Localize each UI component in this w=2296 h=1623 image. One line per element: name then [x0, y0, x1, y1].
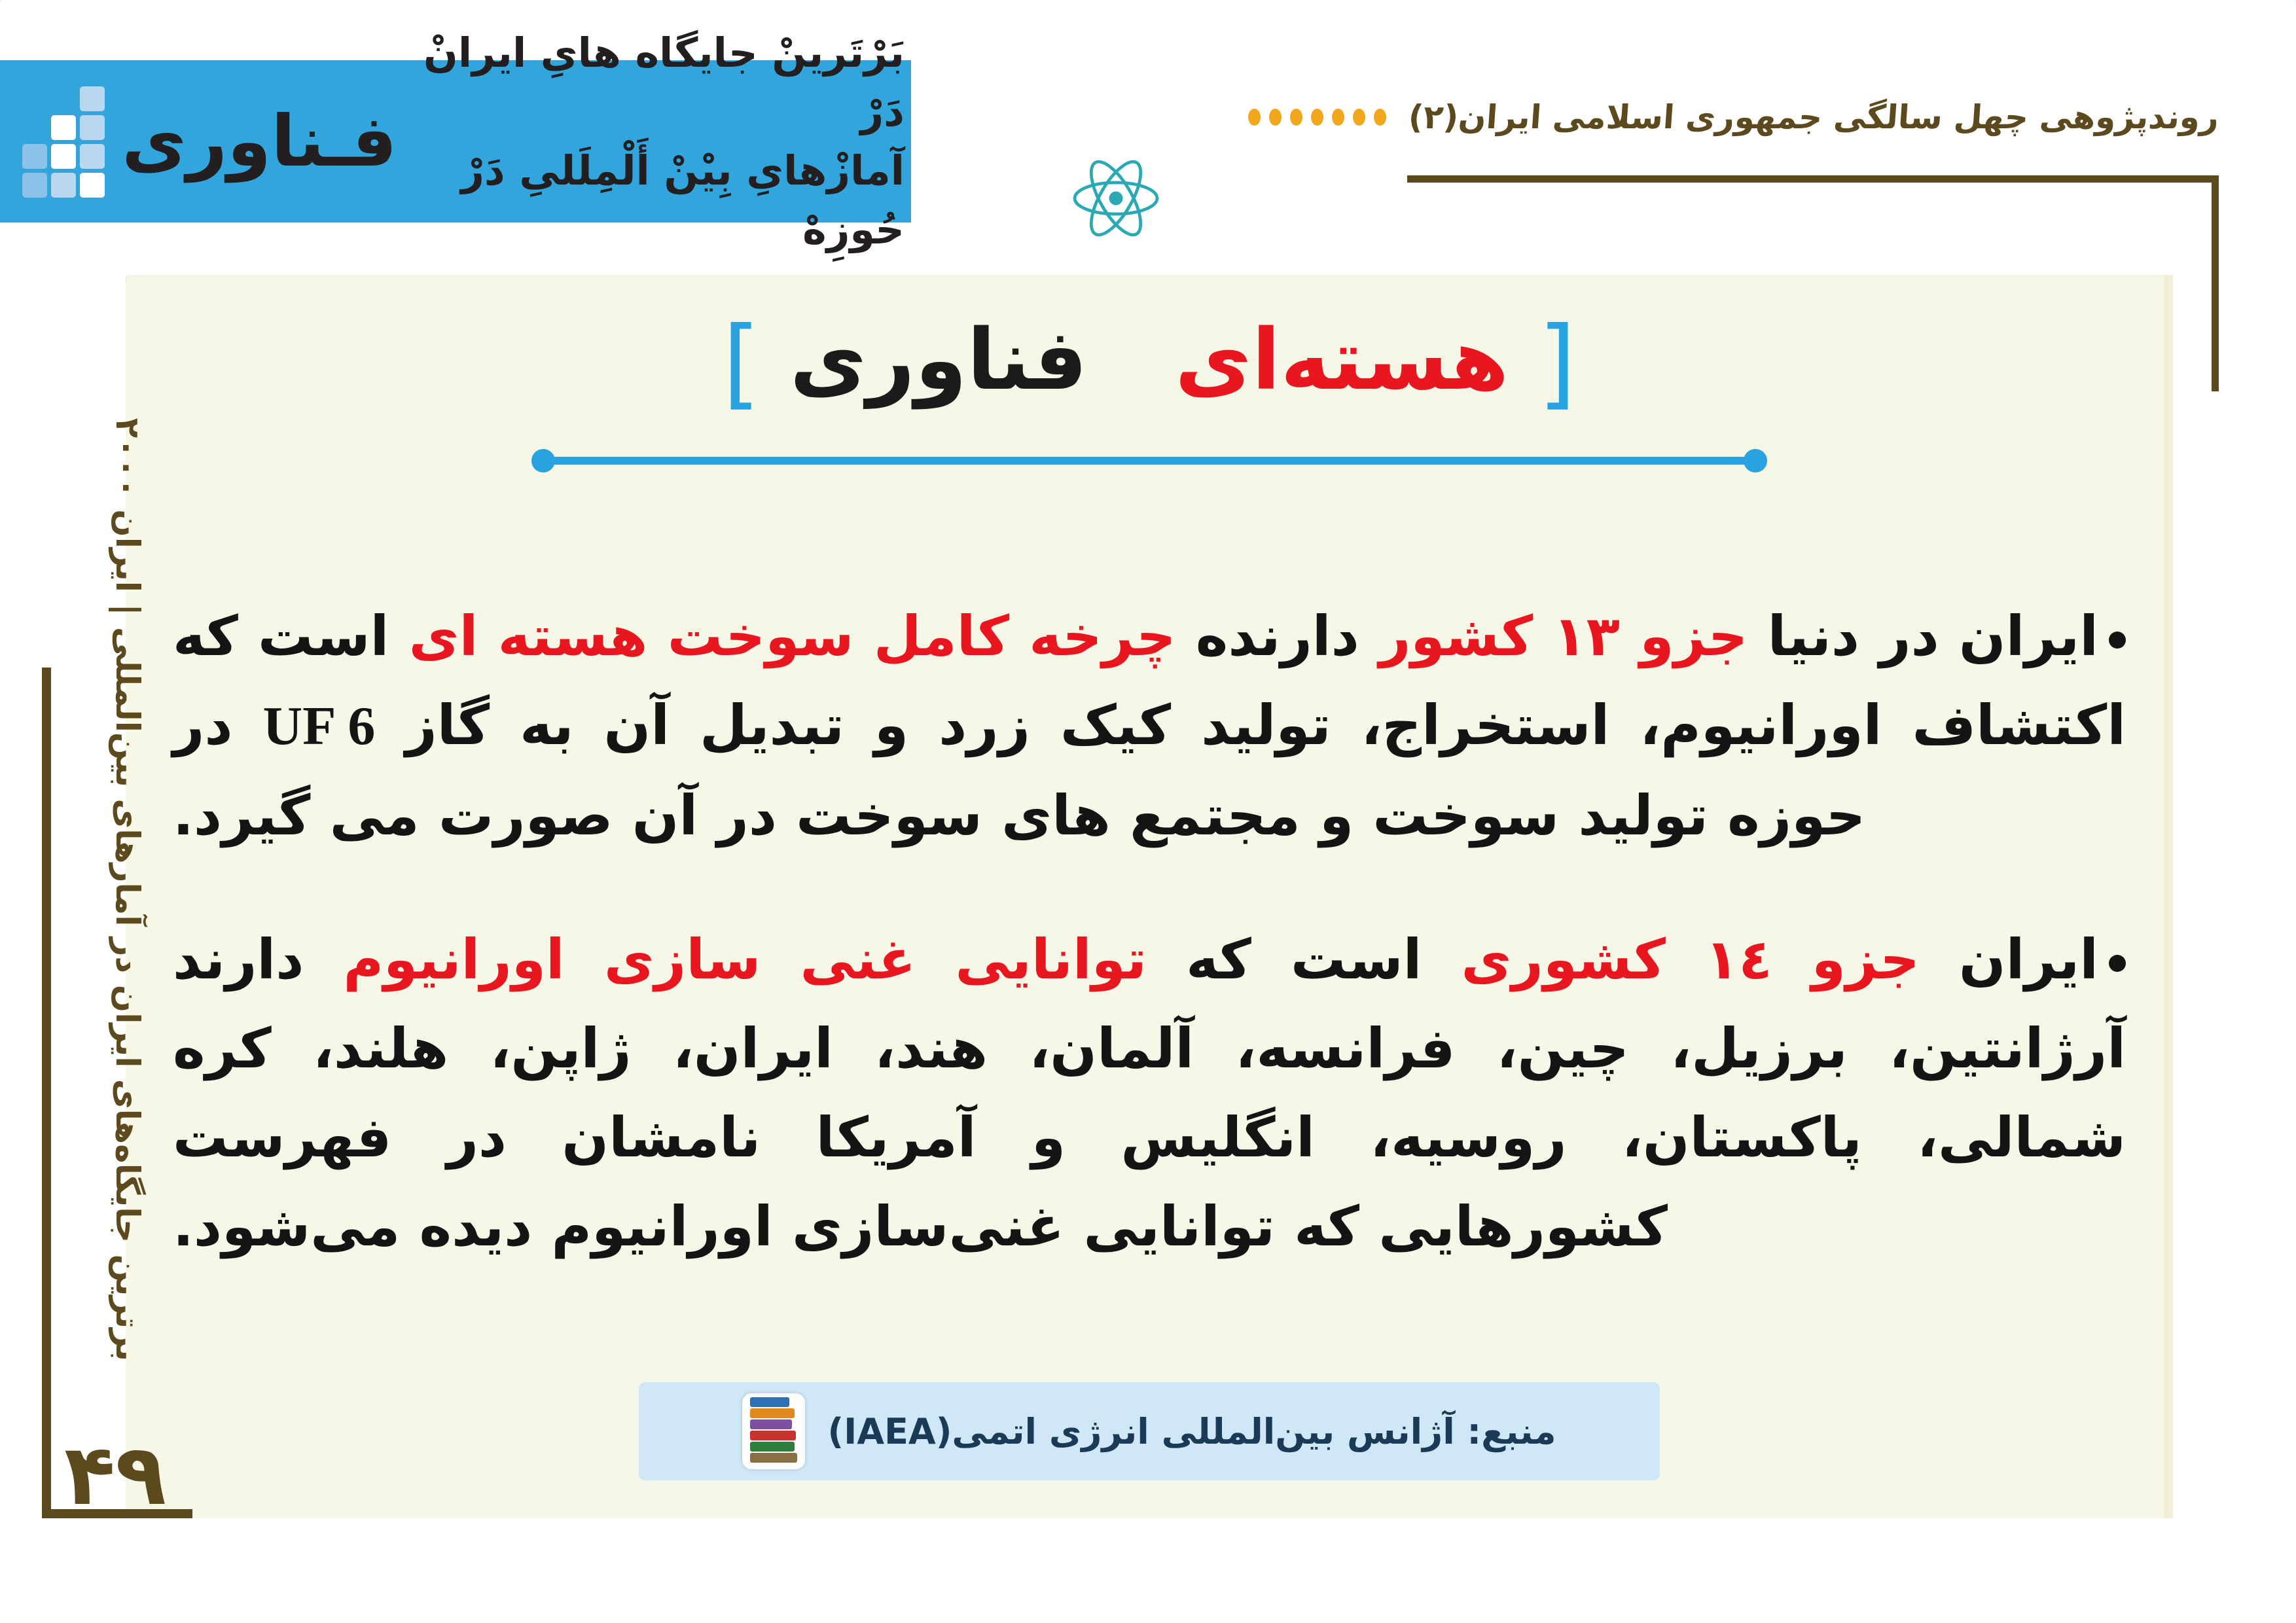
page-title: [ هسته‌ای فناوری ] — [126, 314, 2173, 412]
content-card: [ هسته‌ای فناوری ] ایران در دنیا جزو ۱۳ … — [126, 275, 2173, 1518]
bracket-close-icon: ] — [723, 306, 761, 420]
bullet-paragraph-1: ایران در دنیا جزو ۱۳ کشور دارنده چرخه کا… — [173, 592, 2126, 860]
atom-icon — [1067, 149, 1165, 247]
source-label: منبع: آژانس بین‌المللی انرژی اتمی(IAEA) — [827, 1411, 1556, 1452]
series-title: روندپژوهی چهل سالگی جمهوری اسلامی ایران(… — [1407, 98, 2220, 136]
page-title-red: هسته‌ای — [1175, 312, 1509, 409]
dot-decoration — [1248, 109, 1386, 126]
series-title-row: روندپژوهی چهل سالگی جمهوری اسلامی ایران(… — [1248, 98, 2219, 136]
header-corner-rule — [1407, 175, 2219, 183]
card-edge-accent — [2164, 275, 2173, 1518]
bullet-paragraph-2: ایران جزو ۱٤ کشوری است که توانایی غنی سا… — [173, 915, 2126, 1271]
slide-page: بَرْتَرینْ جایگاه هایِ ایرانْ دَرْ آمازْ… — [0, 0, 2296, 1623]
bracket-open-icon: [ — [1538, 306, 1577, 420]
page-title-black: فناوری — [790, 312, 1088, 409]
sidebar-vertical-title: برترین جایگاه‌های ایران در آمارهای بین‌ا… — [109, 668, 147, 1361]
body-text: ایران در دنیا جزو ۱۳ کشور دارنده چرخه کا… — [173, 537, 2126, 1327]
bullet-dot-icon — [2109, 955, 2126, 972]
sidebar-rule — [42, 668, 51, 1518]
grid-logo-icon — [22, 86, 105, 196]
bullet-dot-icon — [2109, 632, 2126, 649]
paragraph-2-content: ایران جزو ۱٤ کشوری است که توانایی غنی سا… — [173, 927, 2126, 1258]
header-banner: بَرْتَرینْ جایگاه هایِ ایرانْ دَرْ آمازْ… — [0, 60, 911, 223]
title-underline — [541, 457, 1758, 465]
page-number: ۴۹ — [64, 1427, 166, 1524]
books-icon — [742, 1393, 805, 1469]
source-box: منبع: آژانس بین‌المللی انرژی اتمی(IAEA) — [639, 1382, 1660, 1480]
header-subtitle: بَرْتَرینْ جایگاه هایِ ایرانْ دَرْ آمازْ… — [423, 24, 911, 259]
paragraph-1-content: ایران در دنیا جزو ۱۳ کشور دارنده چرخه کا… — [173, 604, 2126, 847]
header-logo-word: فـناوری — [122, 101, 397, 183]
